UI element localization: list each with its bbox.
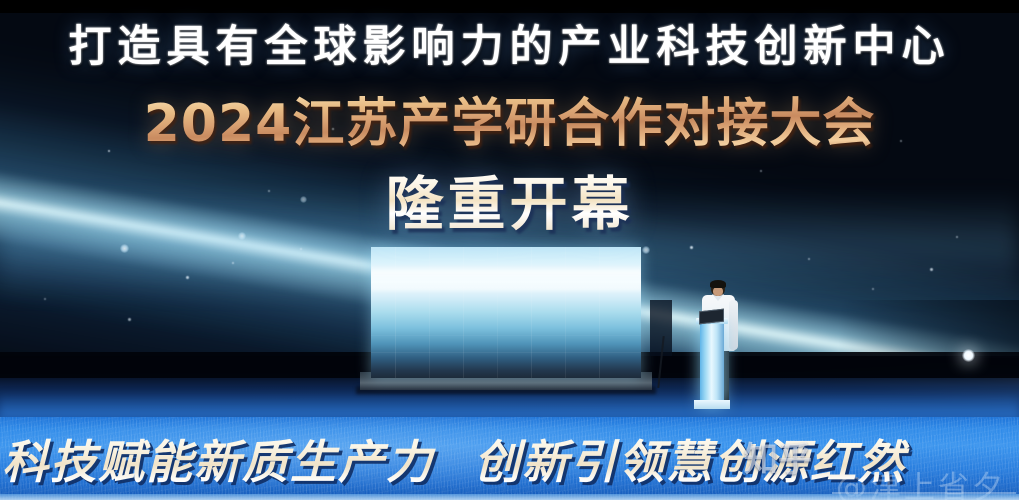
star [872,288,874,290]
event-main-title: 2024江苏产学研合作对接大会 [0,86,1019,150]
led-panel-seam [531,247,532,378]
led-panel-seam [371,335,641,336]
star [808,258,810,260]
star [108,150,110,152]
glow-star [120,244,129,253]
speaker-arm [729,300,738,350]
glow-star [642,246,650,254]
podium-tablet-screen [699,309,724,325]
star [930,268,933,271]
star [956,236,958,238]
podium-base [694,400,730,409]
page-title: 打造具有全球影响力的产业科技创新中心 [0,12,1019,74]
led-panel-seam [371,279,641,280]
led-bright-row [371,283,641,293]
banner-slogan-left: 科技赋能新质生产力 [2,426,434,492]
led-panel-seam [565,247,566,378]
star [232,262,234,264]
spotlight-flare [962,349,975,362]
led-panel-seam [429,247,430,378]
banner-slogan-right: 创新引领 [474,426,666,492]
event-stage-photo: 打造具有全球影响力的产业科技创新中心 2024江苏产学研合作对接大会 隆重开幕 … [0,0,1019,500]
speaker-hair [710,280,726,288]
right-stage-shadow [838,300,1019,358]
illuminated-podium [700,322,724,406]
floor-reflection-glow [0,392,1019,418]
stage-led-video-wall [371,247,641,378]
event-subtitle: 隆重开幕 [0,163,1019,235]
led-panel-seam [371,352,641,353]
speaker-face [713,287,723,296]
zhihu-watermark: 知乎 [744,432,812,481]
star [690,246,693,249]
led-panel-seam [395,247,396,378]
star [300,248,302,250]
star [128,318,131,321]
star [44,298,46,300]
led-panel-seam [599,247,600,378]
led-panel-seam [463,247,464,378]
star [186,276,189,279]
led-panel-seam [497,247,498,378]
bottom-edge-highlight [0,494,1019,500]
